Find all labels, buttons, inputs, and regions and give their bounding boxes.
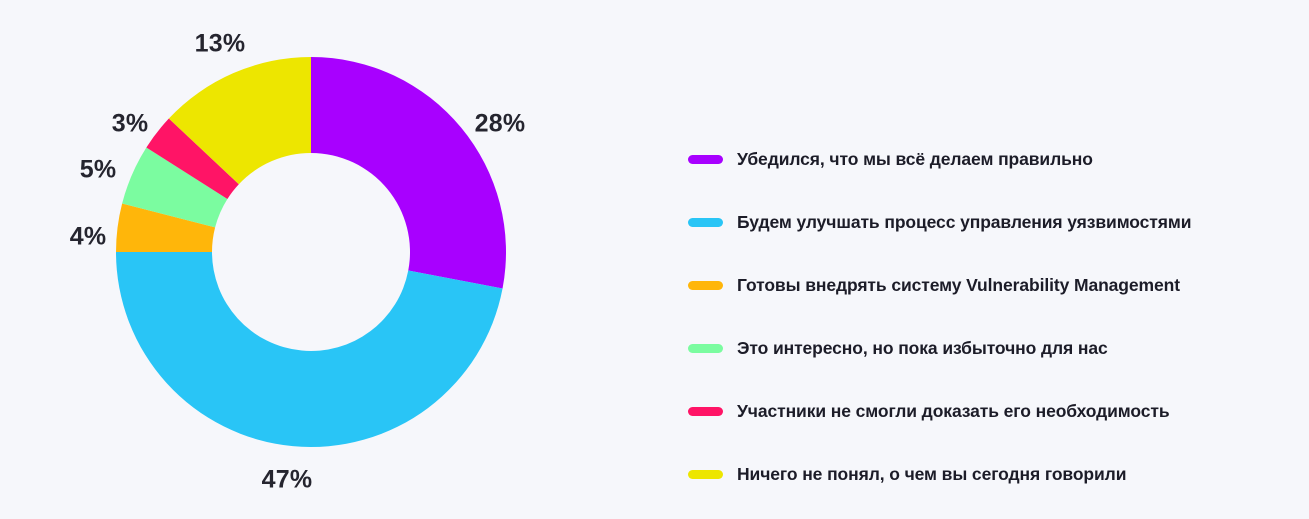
slice-percent-label: 13% [195, 32, 246, 57]
chart-legend: Убедился, что мы всё делаем правильноБуд… [688, 128, 1298, 506]
slice-percent-label: 28% [475, 112, 526, 137]
legend-item[interactable]: Участники не смогли доказать его необход… [688, 380, 1298, 443]
legend-item-label: Будем улучшать процесс управления уязвим… [737, 212, 1191, 232]
donut-chart-figure: 28%47%4%5%3%13% Убедился, что мы всё дел… [0, 0, 1309, 519]
legend-item[interactable]: Будем улучшать процесс управления уязвим… [688, 191, 1298, 254]
legend-item-label: Это интересно, но пока избыточно для нас [737, 338, 1108, 358]
legend-item[interactable]: Убедился, что мы всё делаем правильно [688, 128, 1298, 191]
slice-percent-label: 4% [70, 225, 107, 250]
legend-color-swatch-icon [688, 218, 723, 227]
legend-item[interactable]: Готовы внедрять систему Vulnerability Ma… [688, 254, 1298, 317]
donut-slice[interactable] [311, 57, 506, 289]
slice-percent-label: 5% [80, 158, 117, 183]
legend-color-swatch-icon [688, 155, 723, 164]
chart-plot-area: 28%47%4%5%3%13% [0, 0, 620, 519]
slice-percent-label: 47% [262, 468, 313, 493]
legend-item-label: Убедился, что мы всё делаем правильно [737, 149, 1093, 169]
donut-slice[interactable] [116, 252, 503, 447]
legend-item[interactable]: Это интересно, но пока избыточно для нас [688, 317, 1298, 380]
legend-color-swatch-icon [688, 407, 723, 416]
legend-color-swatch-icon [688, 281, 723, 290]
legend-item-label: Ничего не понял, о чем вы сегодня говори… [737, 464, 1126, 484]
legend-item-label: Участники не смогли доказать его необход… [737, 401, 1170, 421]
donut-svg [0, 0, 620, 519]
slice-percent-label: 3% [112, 112, 149, 137]
legend-item-label: Готовы внедрять систему Vulnerability Ma… [737, 275, 1180, 295]
legend-color-swatch-icon [688, 344, 723, 353]
legend-item[interactable]: Ничего не понял, о чем вы сегодня говори… [688, 443, 1298, 506]
legend-color-swatch-icon [688, 470, 723, 479]
